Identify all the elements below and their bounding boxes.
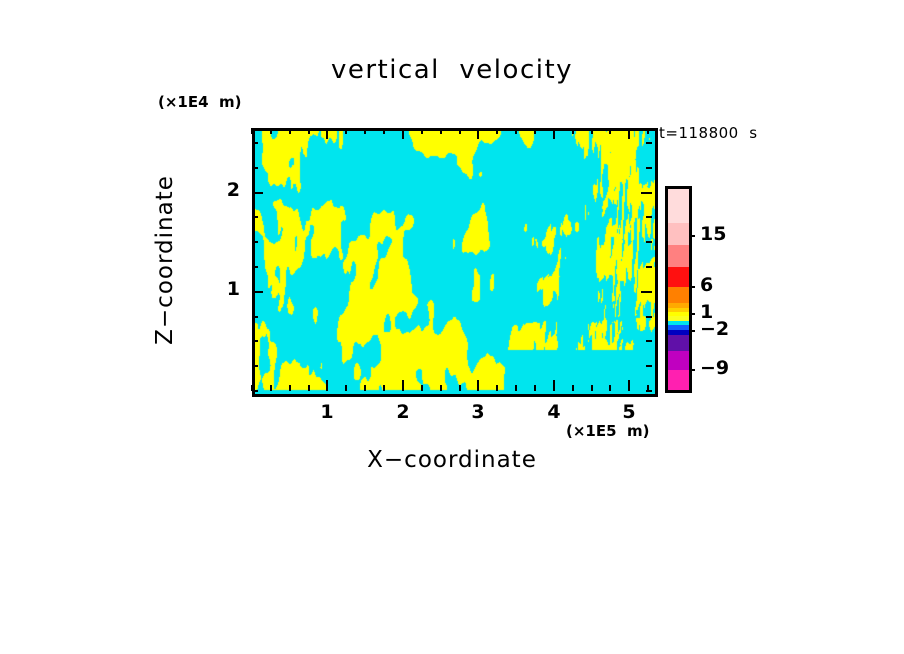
x-major-tick-bottom (477, 380, 479, 391)
x-axis-title: X−coordinate (252, 447, 652, 473)
x-minor-tick-top (609, 128, 611, 134)
x-major-tick-top (628, 128, 630, 139)
x-tick-label: 5 (614, 401, 644, 423)
x-axis-unit-label: (×1E5 m) (566, 422, 649, 440)
y-minor-tick-left (252, 241, 258, 243)
time-annotation: t=118800 s (659, 124, 758, 142)
x-minor-tick-top (289, 128, 291, 134)
x-major-tick-bottom (326, 380, 328, 391)
x-tick-label: 2 (388, 401, 418, 423)
x-minor-tick-bottom (364, 385, 366, 391)
colorbar-band (668, 189, 689, 223)
x-minor-tick-top (591, 128, 593, 134)
colorbar-band (668, 335, 689, 351)
x-major-tick-bottom (402, 380, 404, 391)
x-minor-tick-top (572, 128, 574, 134)
x-tick-label: 1 (312, 401, 342, 423)
x-minor-tick-bottom (496, 385, 498, 391)
colorbar-band (668, 223, 689, 245)
y-minor-tick-right (646, 167, 652, 169)
y-axis-unit-label: (×1E4 m) (158, 93, 241, 111)
y-minor-tick-right (646, 241, 652, 243)
y-minor-tick-right (646, 365, 652, 367)
x-minor-tick-top (421, 128, 423, 134)
y-major-tick-left (252, 192, 263, 194)
y-minor-tick-left (252, 316, 258, 318)
colorbar-band (668, 351, 689, 371)
x-minor-tick-top (345, 128, 347, 134)
page-title: vertical velocity (252, 55, 652, 85)
y-minor-tick-left (252, 266, 258, 268)
y-minor-tick-right (646, 142, 652, 144)
x-tick-label: 4 (539, 401, 569, 423)
y-minor-tick-right (646, 266, 652, 268)
x-major-tick-top (326, 128, 328, 139)
colorbar-band (668, 370, 689, 390)
x-minor-tick-bottom (421, 385, 423, 391)
colorbar (665, 186, 692, 393)
x-major-tick-top (553, 128, 555, 139)
x-minor-tick-bottom (591, 385, 593, 391)
y-minor-tick-left (252, 365, 258, 367)
y-minor-tick-right (646, 316, 652, 318)
x-minor-tick-top (383, 128, 385, 134)
x-minor-tick-top (251, 128, 253, 134)
x-major-tick-bottom (553, 380, 555, 391)
y-minor-tick-left (252, 167, 258, 169)
colorbar-tick (689, 369, 695, 371)
y-major-tick-right (641, 291, 652, 293)
colorbar-band (668, 267, 689, 287)
x-minor-tick-top (515, 128, 517, 134)
colorbar-label: −9 (700, 357, 729, 379)
colorbar-tick (689, 286, 695, 288)
x-minor-tick-top (364, 128, 366, 134)
x-minor-tick-bottom (534, 385, 536, 391)
x-minor-tick-bottom (345, 385, 347, 391)
colorbar-label: −2 (700, 318, 729, 340)
x-minor-tick-bottom (459, 385, 461, 391)
y-minor-tick-right (646, 340, 652, 342)
x-minor-tick-bottom (609, 385, 611, 391)
colorbar-label: 6 (700, 274, 713, 296)
x-minor-tick-bottom (572, 385, 574, 391)
y-minor-tick-right (646, 390, 652, 392)
colorbar-tick (689, 313, 695, 315)
x-minor-tick-top (270, 128, 272, 134)
figure-canvas: vertical velocity (×1E4 m) (×1E5 m) X−co… (0, 0, 904, 654)
x-minor-tick-top (496, 128, 498, 134)
heatmap-field (255, 131, 655, 394)
colorbar-tick (689, 330, 695, 332)
y-axis-title: Z−coordinate (152, 140, 182, 380)
y-major-tick-left (252, 291, 263, 293)
y-minor-tick-left (252, 340, 258, 342)
x-tick-label: 3 (463, 401, 493, 423)
x-major-tick-bottom (628, 380, 630, 391)
y-minor-tick-left (252, 390, 258, 392)
y-tick-label: 1 (210, 278, 240, 300)
x-minor-tick-bottom (515, 385, 517, 391)
y-minor-tick-left (252, 216, 258, 218)
colorbar-label: 15 (700, 223, 726, 245)
x-minor-tick-bottom (270, 385, 272, 391)
x-major-tick-top (477, 128, 479, 139)
x-major-tick-top (402, 128, 404, 139)
y-minor-tick-left (252, 142, 258, 144)
x-minor-tick-top (459, 128, 461, 134)
x-minor-tick-bottom (440, 385, 442, 391)
x-minor-tick-bottom (383, 385, 385, 391)
colorbar-band (668, 287, 689, 304)
y-major-tick-right (641, 192, 652, 194)
colorbar-band (668, 245, 689, 267)
y-tick-label: 2 (210, 179, 240, 201)
plot-area (252, 128, 658, 397)
x-minor-tick-bottom (308, 385, 310, 391)
x-minor-tick-top (308, 128, 310, 134)
x-minor-tick-top (440, 128, 442, 134)
x-minor-tick-bottom (289, 385, 291, 391)
x-minor-tick-top (534, 128, 536, 134)
colorbar-tick (689, 235, 695, 237)
y-minor-tick-right (646, 216, 652, 218)
x-minor-tick-top (647, 128, 649, 134)
